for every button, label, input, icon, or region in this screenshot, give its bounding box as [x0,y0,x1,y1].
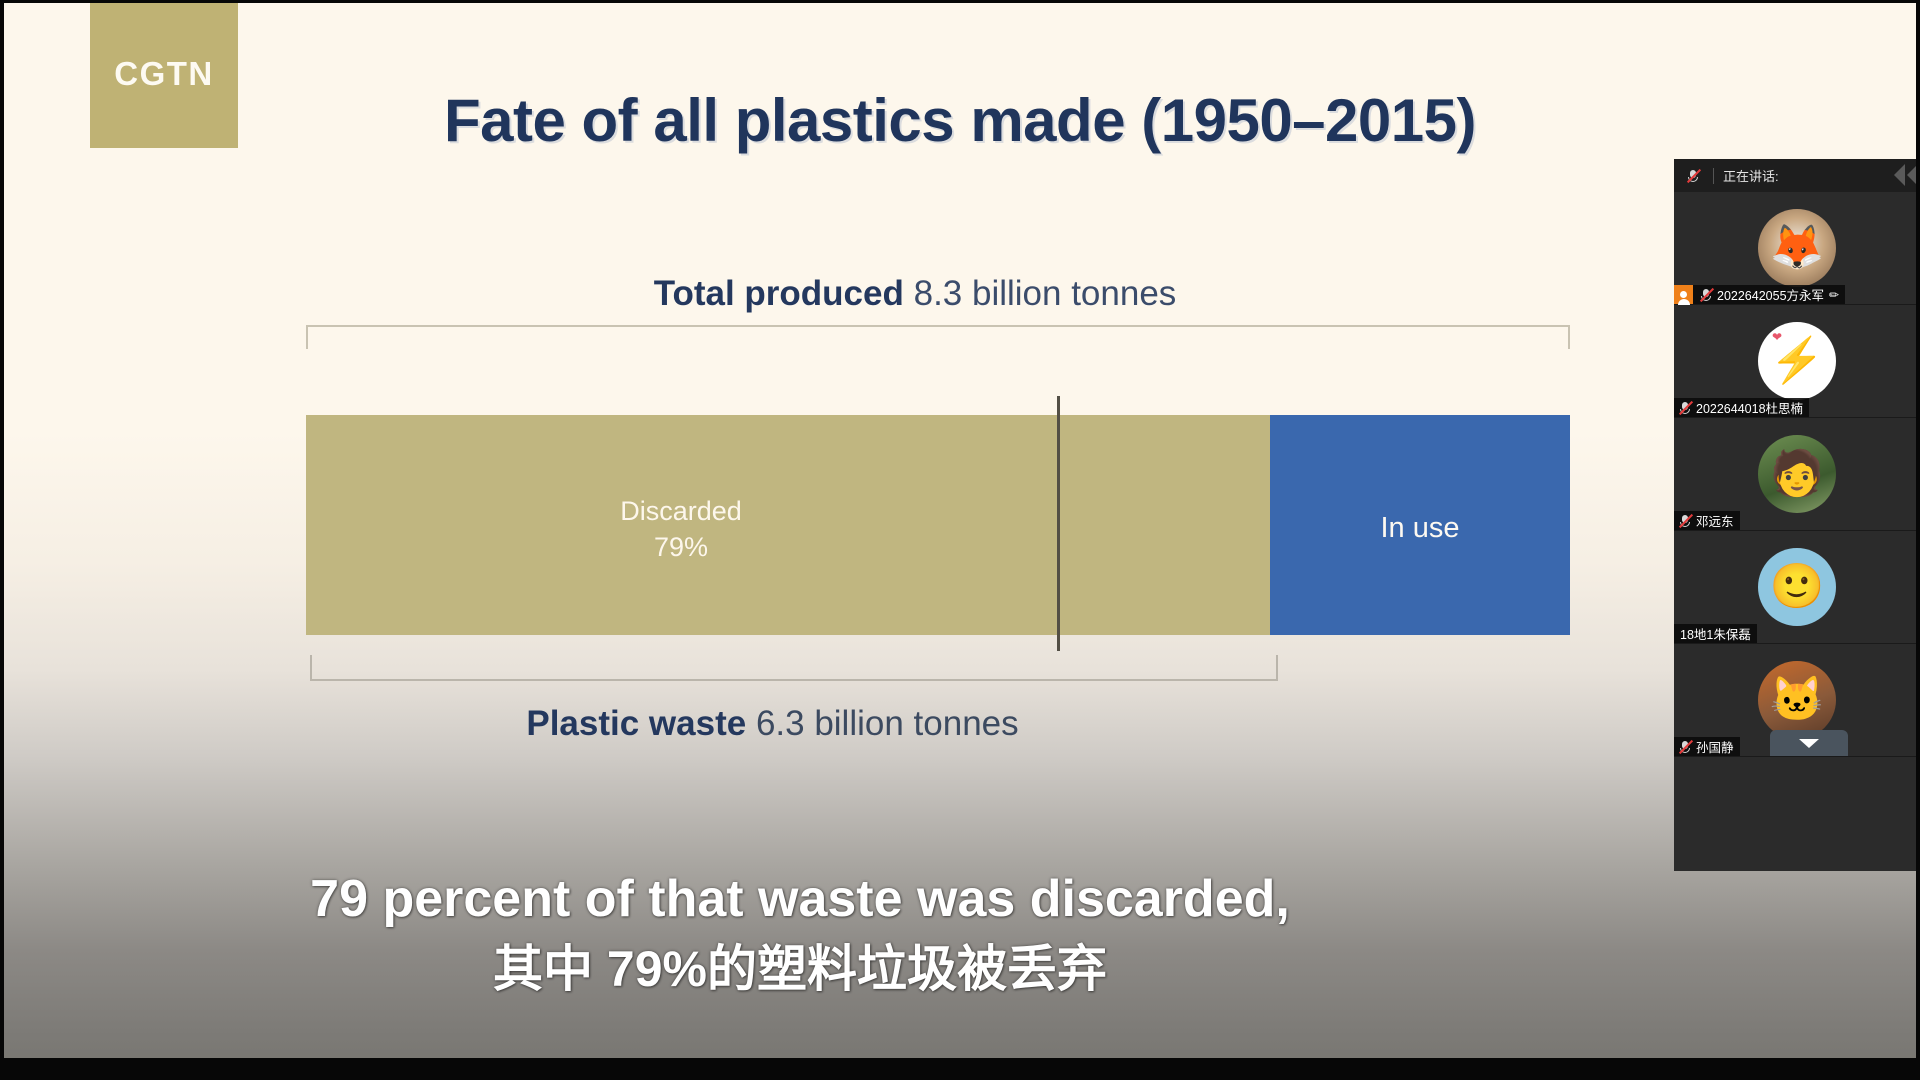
participant-namebar: 2022642055方永军 ✏ [1674,285,1845,304]
participant-tile[interactable]: ❤ ⚡ 2022644018杜思楠 [1674,305,1920,418]
subtitle-chinese: 其中 79%的塑料垃圾被丢弃 [0,938,1600,1000]
mic-muted-icon [1699,287,1713,303]
bar-label-discarded-pct: 79% [306,529,1056,565]
frame-right-edge [1916,0,1920,1080]
participant-namebar: 邓远东 [1674,511,1740,530]
participant-tile[interactable]: 🦊 2022642055方永军 ✏ [1674,192,1920,305]
heart-icon: ❤ [1772,330,1782,344]
show-more-participants-button[interactable] [1770,730,1848,756]
pencil-icon[interactable]: ✏ [1829,288,1839,302]
host-icon [1674,285,1693,304]
kitten-photo-avatar-icon: 🐱 [1770,678,1825,722]
page-title: Fate of all plastics made (1950–2015) [0,86,1920,155]
total-produced-label: Total produced [654,274,904,313]
participant-namebar: 18地1朱保磊 [1674,624,1757,643]
participant-name: 邓远东 [1696,511,1734,530]
chevron-down-icon [1799,739,1819,748]
participant-namebar: 2022644018杜思楠 [1674,398,1809,417]
plastic-waste-divider [1057,396,1060,651]
bar-label-discarded: Discarded 79% [306,493,1056,565]
participant-name: 2022644018杜思楠 [1696,398,1803,417]
cartoon-face-avatar-icon: 🙂 [1770,565,1825,609]
avatar: 🐱 [1758,661,1836,739]
plastic-waste-value: 6.3 billion tonnes [756,704,1019,743]
bar-label-in-use: In use [1270,512,1570,545]
stacked-bar-chart: Discarded 79% In use [306,415,1570,635]
mic-muted-icon [1686,168,1700,184]
total-produced-bracket [306,325,1570,349]
video-participants-panel[interactable]: 正在讲话: 🦊 2022642055方永军 ✏ ❤ [1674,159,1920,871]
frame-bottom-edge [0,1058,1920,1080]
mic-muted-icon [1678,400,1692,416]
avatar: 🧑 [1758,435,1836,513]
frame-left-edge [0,0,4,1080]
bar-label-discarded-name: Discarded [306,493,1056,529]
participant-tile[interactable]: 🐱 孙国静 [1674,644,1920,757]
man-photo-avatar-icon: 🧑 [1770,452,1825,496]
avatar: ❤ ⚡ [1758,322,1836,400]
frame-top-edge [0,0,1920,3]
participant-name: 孙国静 [1696,737,1734,756]
slide-stage: CGTN Fate of all plastics made (1950–201… [0,0,1920,1080]
participant-name: 18地1朱保磊 [1674,624,1751,643]
participant-tile[interactable]: 🧑 邓远东 [1674,418,1920,531]
panel-collapse-button[interactable] [1876,163,1918,187]
total-produced-value: 8.3 billion tonnes [914,274,1177,313]
total-produced-caption: Total produced 8.3 billion tonnes [0,274,1830,314]
mic-muted-icon [1678,513,1692,529]
now-speaking-label: 正在讲话: [1723,166,1779,185]
participant-name: 2022642055方永军 [1717,285,1824,304]
participant-namebar: 孙国静 [1674,737,1740,756]
header-divider [1713,168,1714,184]
plastic-waste-bracket [310,655,1278,681]
video-panel-header: 正在讲话: [1674,159,1920,192]
plastic-waste-label: Plastic waste [526,704,746,743]
participant-tile[interactable]: 🙂 18地1朱保磊 [1674,531,1920,644]
plastic-waste-caption: Plastic waste 6.3 billion tonnes [0,704,1545,744]
subtitle-block: 79 percent of that waste was discarded, … [0,868,1600,1000]
subtitle-english: 79 percent of that waste was discarded, [0,868,1600,930]
avatar: 🙂 [1758,548,1836,626]
avatar: 🦊 [1758,209,1836,287]
fox-avatar-icon: 🦊 [1770,226,1825,270]
pikachu-avatar-icon: ⚡ [1770,339,1825,383]
mic-muted-icon [1678,739,1692,755]
chevron-left-icon [1894,164,1905,186]
